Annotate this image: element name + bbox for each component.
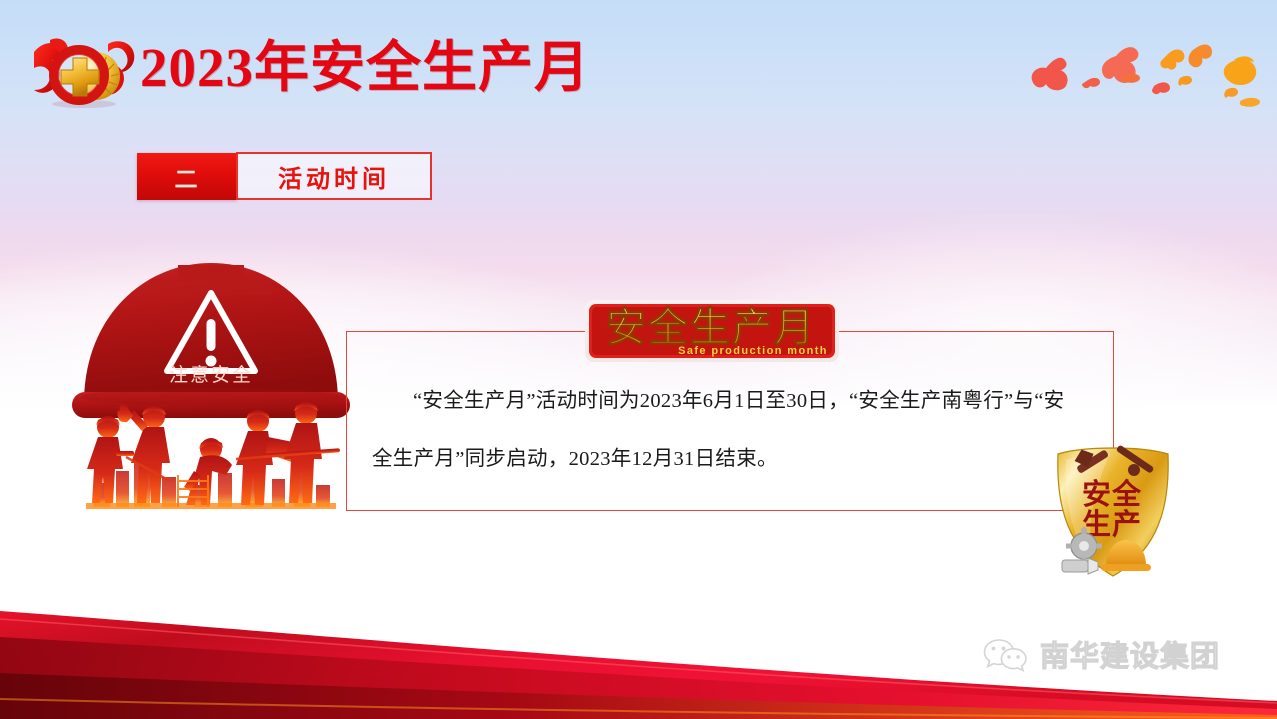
flashlight-icon (1062, 558, 1098, 574)
section-title-box: 活动时间 (236, 152, 432, 200)
page-title: 2023年安全生产月 (140, 36, 590, 100)
svg-text:安全生产月: 安全生产月 (606, 305, 816, 350)
gold-shield-badge-icon: 安全 生产 (1046, 438, 1182, 588)
footer-brand: 南华建设集团 (982, 634, 1220, 680)
section-number-label: 二 (175, 160, 200, 194)
section-title-label: 活动时间 (278, 159, 390, 194)
flying-birds-icon (1020, 18, 1270, 126)
wechat-icon (982, 636, 1030, 679)
body-paragraph: “安全生产月”活动时间为2023年6月1日至30日，“安全生产南粤行”与“安全生… (372, 372, 1072, 488)
brand-name-label: 南华建设集团 (1040, 640, 1220, 674)
safety-illustration: 注意安全 (66, 245, 356, 525)
gold-3d-title-icon: 安全生产月 Safe production month (583, 297, 841, 365)
section-number-box: 二 (137, 153, 237, 200)
svg-text:注意安全: 注意安全 (169, 364, 253, 386)
svg-text:Safe production month: Safe production month (678, 345, 828, 357)
safety-production-month-emblem-icon (24, 30, 142, 110)
slide-canvas: 2023年安全生产月 (0, 0, 1277, 719)
svg-text:安全: 安全 (1082, 477, 1142, 511)
